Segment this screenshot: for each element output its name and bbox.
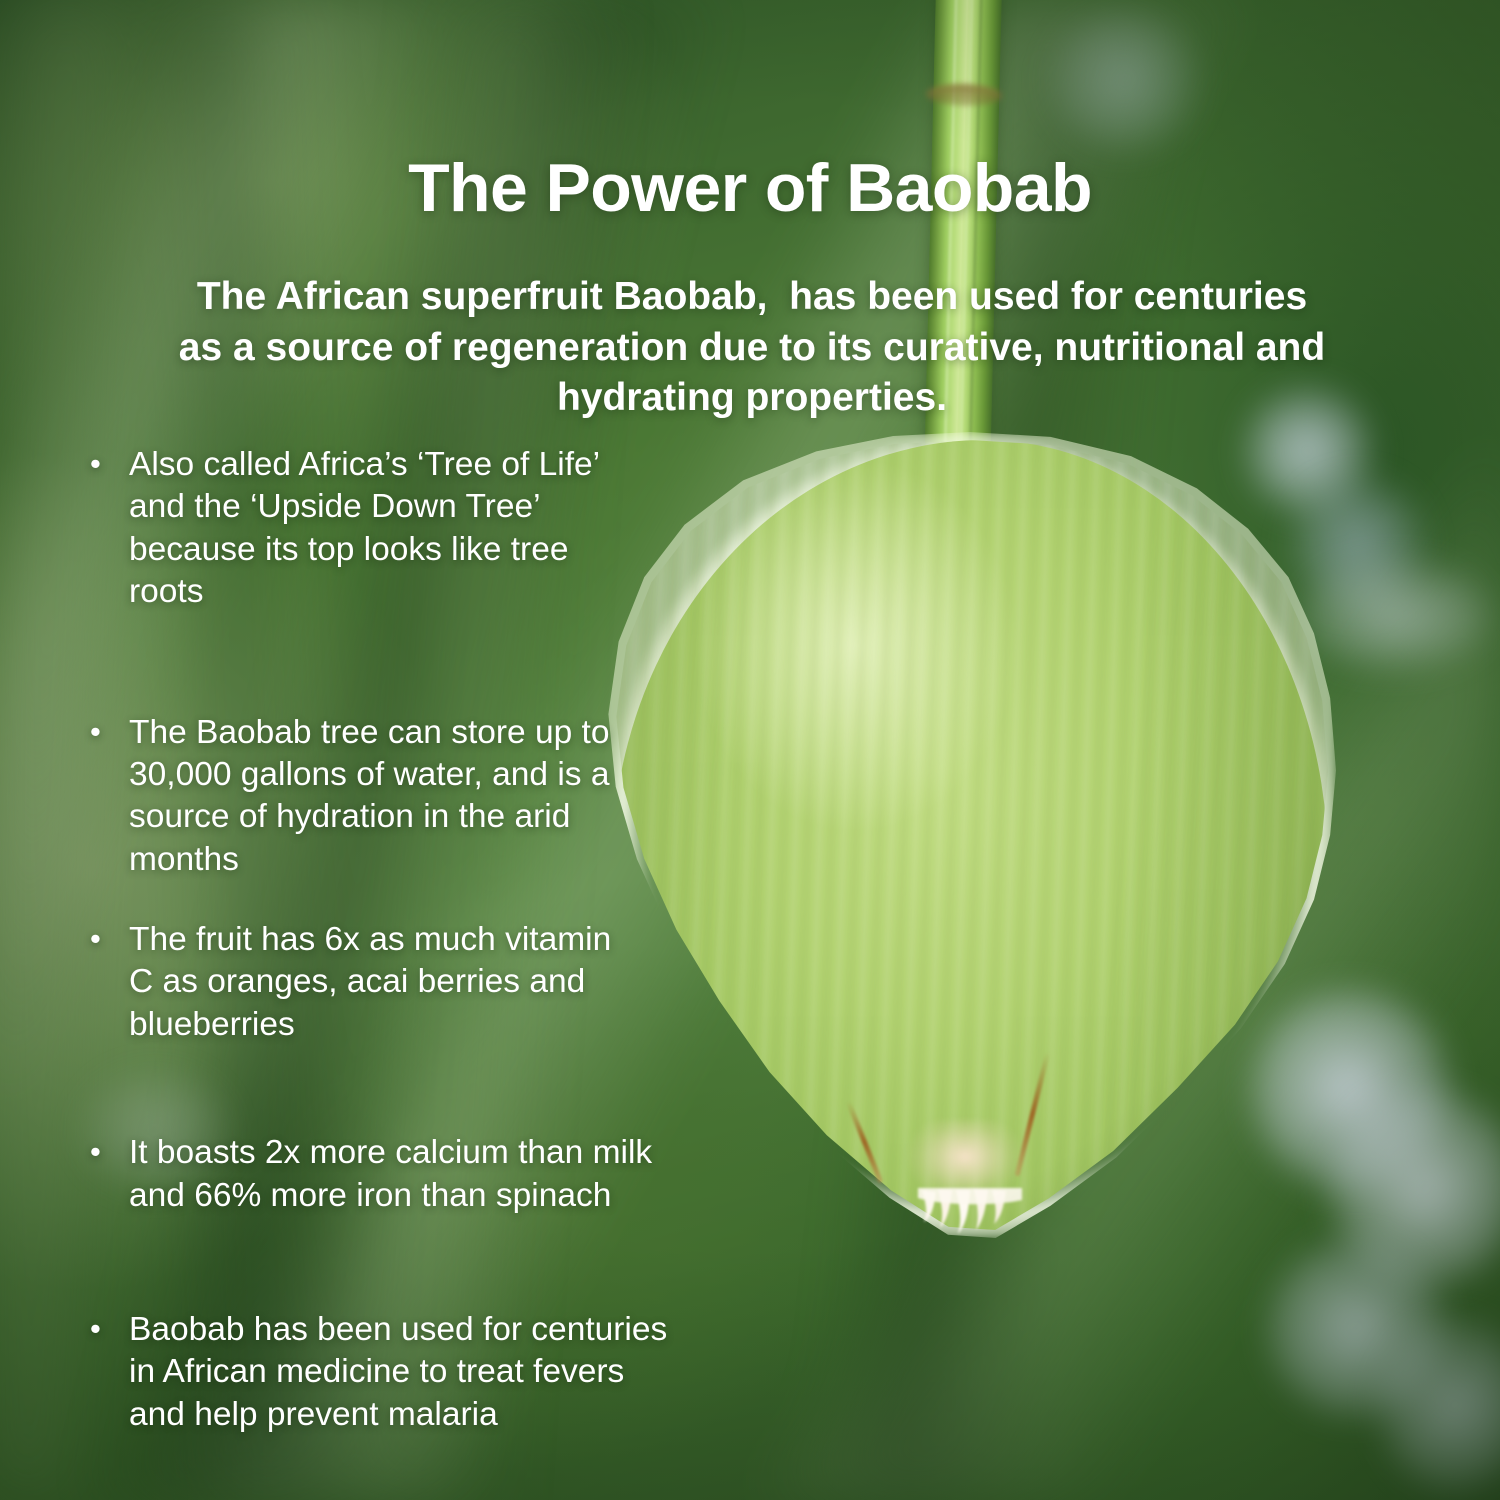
list-item-text: The Baobab tree can store up to 30,000 g… (129, 712, 776, 882)
page-title: The Power of Baobab (0, 154, 1500, 222)
bullet-dot-icon: • (86, 919, 129, 958)
list-item: • Also called Africa’s ‘Tree of Life’ an… (86, 444, 776, 614)
bullet-dot-icon: • (86, 712, 129, 751)
page-subtitle: The African superfruit Baobab, has been … (172, 272, 1332, 424)
list-item-text: It boasts 2x more calcium than milk and … (129, 1132, 776, 1217)
list-item: • The Baobab tree can store up to 30,000… (86, 712, 776, 882)
list-item: • It boasts 2x more calcium than milk an… (86, 1132, 776, 1217)
bullet-dot-icon: • (86, 1132, 129, 1171)
list-item: • Baobab has been used for centuries in … (86, 1309, 776, 1436)
fact-list: • Also called Africa’s ‘Tree of Life’ an… (86, 444, 776, 1436)
baobab-infographic-poster: The Power of Baobab The African superfru… (0, 0, 1500, 1500)
list-item-text: The fruit has 6x as much vitamin C as or… (129, 919, 776, 1046)
list-item-text: Baobab has been used for centuries in Af… (129, 1309, 776, 1436)
poster-content: The Power of Baobab The African superfru… (0, 0, 1500, 1500)
bullet-dot-icon: • (86, 444, 129, 483)
list-item: • The fruit has 6x as much vitamin C as … (86, 919, 776, 1046)
bullet-dot-icon: • (86, 1309, 129, 1348)
list-item-text: Also called Africa’s ‘Tree of Life’ and … (129, 444, 776, 614)
